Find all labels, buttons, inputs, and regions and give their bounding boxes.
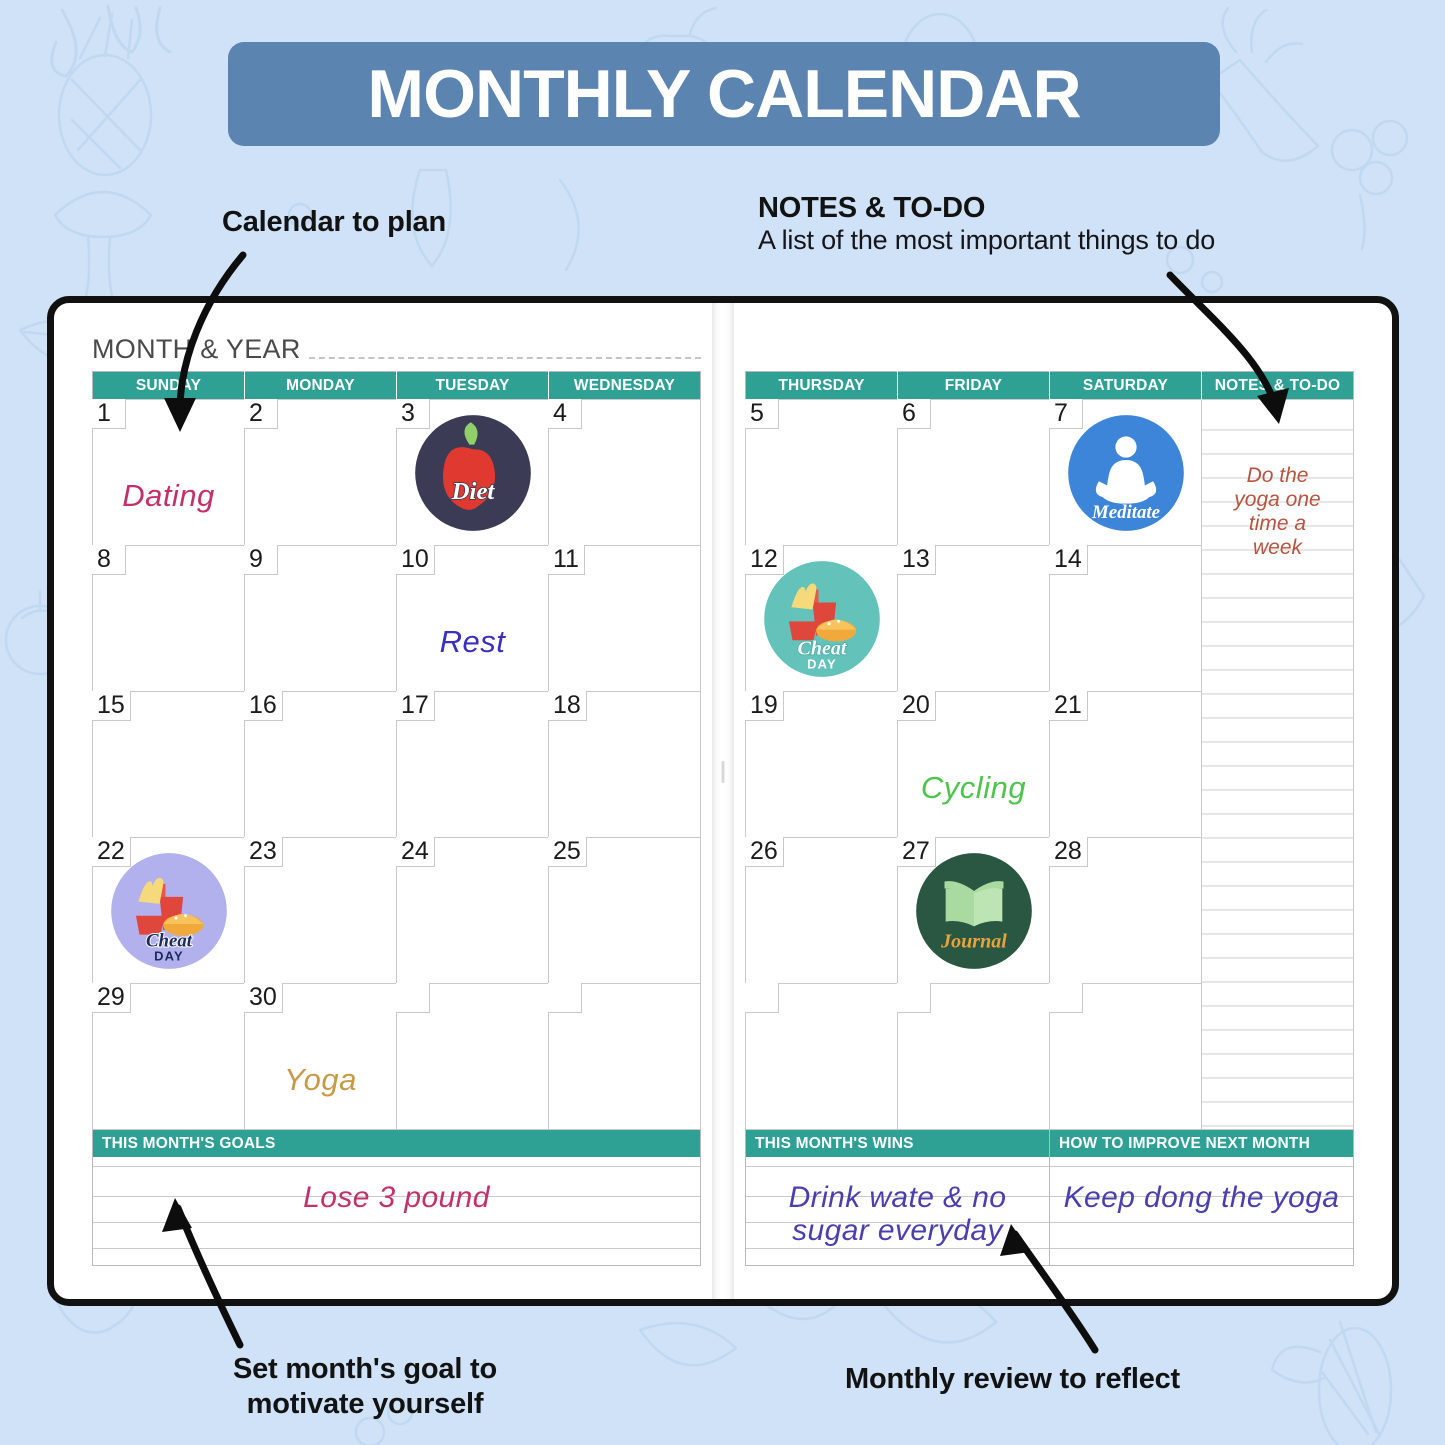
day-number bbox=[745, 983, 779, 1013]
day-number: 10 bbox=[396, 545, 435, 575]
day-number: 19 bbox=[745, 691, 784, 721]
calendar-week-row: 15 16 17 18 bbox=[93, 692, 701, 838]
this-months-goals-body[interactable]: Lose 3 pound bbox=[93, 1157, 700, 1265]
annotation-set-goal-text: Set month's goal to motivate yourself bbox=[175, 1352, 555, 1423]
weekday-header-sunday: SUNDAY bbox=[93, 372, 245, 400]
day-cell-18[interactable]: 18 bbox=[549, 692, 701, 838]
day-number: 1 bbox=[92, 399, 126, 429]
day-entry-dating[interactable]: Dating bbox=[93, 478, 244, 514]
cheat-day-teal-sticker[interactable]: Cheat DAY bbox=[763, 560, 881, 678]
page-title: MONTHLY CALENDAR bbox=[367, 60, 1080, 128]
day-cell-4[interactable]: 4 bbox=[549, 400, 701, 546]
day-cell-1[interactable]: 1 Dating bbox=[93, 400, 245, 546]
how-to-improve-body[interactable]: Keep dong the yoga bbox=[1050, 1157, 1353, 1265]
day-cell-20[interactable]: 20 Cycling bbox=[898, 692, 1050, 838]
annotation-set-goal: Set month's goal to motivate yourself bbox=[175, 1352, 555, 1423]
svg-text:DAY: DAY bbox=[154, 948, 184, 963]
review-section: THIS MONTH'S WINS HOW TO IMPROVE NEXT MO… bbox=[745, 1130, 1354, 1266]
this-months-wins-value[interactable]: Drink wate & no sugar everyday bbox=[746, 1181, 1049, 1247]
planner-left-page: MONTH & YEAR SUNDAY MONDAY TUESDAY WEDNE… bbox=[54, 303, 723, 1299]
day-number: 28 bbox=[1049, 837, 1088, 867]
day-cell-25[interactable]: 25 bbox=[549, 838, 701, 984]
day-number: 17 bbox=[396, 691, 435, 721]
notes-todo-column[interactable]: Do the yoga one time a week bbox=[1202, 400, 1354, 1130]
month-year-blank-line[interactable] bbox=[309, 357, 701, 359]
day-cell-6[interactable]: 6 bbox=[898, 400, 1050, 546]
day-cell-11[interactable]: 11 bbox=[549, 546, 701, 692]
weekday-header-tuesday: TUESDAY bbox=[397, 372, 549, 400]
how-to-improve-value[interactable]: Keep dong the yoga bbox=[1050, 1181, 1353, 1214]
day-number: 13 bbox=[897, 545, 936, 575]
day-cell-12[interactable]: 12 Cheat bbox=[746, 546, 898, 692]
day-entry-yoga[interactable]: Yoga bbox=[245, 1062, 396, 1098]
this-months-goals-section: THIS MONTH'S GOALS Lose 3 pound bbox=[92, 1130, 701, 1266]
calendar-grid-left: SUNDAY MONDAY TUESDAY WEDNESDAY 1 Dating… bbox=[92, 371, 701, 1130]
day-cell-blank-1[interactable] bbox=[397, 984, 549, 1130]
month-year-field[interactable]: MONTH & YEAR bbox=[92, 325, 701, 365]
calendar-week-row: 22 Cheat bbox=[93, 838, 701, 984]
day-number: 20 bbox=[897, 691, 936, 721]
annotation-notes-todo: NOTES & TO-DO A list of the most importa… bbox=[758, 192, 1215, 256]
weekday-header-saturday: SATURDAY bbox=[1050, 372, 1202, 400]
day-entry-rest[interactable]: Rest bbox=[397, 624, 548, 660]
day-cell-2[interactable]: 2 bbox=[245, 400, 397, 546]
day-cell-17[interactable]: 17 bbox=[397, 692, 549, 838]
meditate-sticker[interactable]: Meditate bbox=[1067, 414, 1185, 532]
right-page-top-spacer bbox=[745, 325, 1354, 371]
month-year-label: MONTH & YEAR bbox=[92, 334, 301, 365]
day-number: 2 bbox=[244, 399, 278, 429]
diet-sticker[interactable]: Diet bbox=[414, 414, 532, 532]
svg-text:DAY: DAY bbox=[807, 656, 837, 671]
day-cell-27[interactable]: 27 Journal bbox=[898, 838, 1050, 984]
calendar-grid-right: THURSDAY FRIDAY SATURDAY NOTES & TO-DO 5… bbox=[745, 371, 1354, 1130]
day-number: 6 bbox=[897, 399, 931, 429]
day-number: 14 bbox=[1049, 545, 1088, 575]
day-cell-blank-2[interactable] bbox=[549, 984, 701, 1130]
weekday-header-wednesday: WEDNESDAY bbox=[549, 372, 701, 400]
day-cell-blank-5[interactable] bbox=[1050, 984, 1202, 1130]
weekday-header-row-left: SUNDAY MONDAY TUESDAY WEDNESDAY bbox=[93, 372, 701, 400]
day-cell-7[interactable]: 7 Meditate bbox=[1050, 400, 1202, 546]
day-number: 8 bbox=[92, 545, 126, 575]
day-number: 29 bbox=[92, 983, 131, 1013]
calendar-week-row: 5 6 7 bbox=[746, 400, 1354, 546]
calendar-week-row: 29 30 Yoga bbox=[93, 984, 701, 1130]
day-number: 15 bbox=[92, 691, 131, 721]
day-cell-22[interactable]: 22 Cheat bbox=[93, 838, 245, 984]
day-number: 24 bbox=[396, 837, 435, 867]
day-cell-21[interactable]: 21 bbox=[1050, 692, 1202, 838]
weekday-header-friday: FRIDAY bbox=[898, 372, 1050, 400]
day-number: 5 bbox=[745, 399, 779, 429]
day-number: 18 bbox=[548, 691, 587, 721]
day-cell-blank-4[interactable] bbox=[898, 984, 1050, 1130]
page-title-banner: MONTHLY CALENDAR bbox=[228, 42, 1220, 146]
day-number: 16 bbox=[244, 691, 283, 721]
day-cell-23[interactable]: 23 bbox=[245, 838, 397, 984]
day-cell-15[interactable]: 15 bbox=[93, 692, 245, 838]
day-cell-16[interactable]: 16 bbox=[245, 692, 397, 838]
planner-notebook: MONTH & YEAR SUNDAY MONDAY TUESDAY WEDNE… bbox=[47, 296, 1399, 1306]
notes-todo-text[interactable]: Do the yoga one time a week bbox=[1202, 464, 1353, 560]
day-cell-9[interactable]: 9 bbox=[245, 546, 397, 692]
this-months-wins-body[interactable]: Drink wate & no sugar everyday bbox=[746, 1157, 1050, 1265]
calendar-week-row: 1 Dating 2 3 Diet bbox=[93, 400, 701, 546]
day-number bbox=[548, 983, 582, 1013]
annotation-calendar-to-plan: Calendar to plan bbox=[222, 206, 446, 239]
annotation-monthly-review-text: Monthly review to reflect bbox=[845, 1363, 1180, 1396]
annotation-calendar-to-plan-text: Calendar to plan bbox=[222, 206, 446, 239]
day-cell-blank-3[interactable] bbox=[746, 984, 898, 1130]
how-to-improve-heading: HOW TO IMPROVE NEXT MONTH bbox=[1050, 1130, 1353, 1157]
day-number: 30 bbox=[244, 983, 283, 1013]
svg-text:Diet: Diet bbox=[450, 477, 495, 504]
day-number bbox=[1049, 983, 1083, 1013]
day-cell-28[interactable]: 28 bbox=[1050, 838, 1202, 984]
day-number: 21 bbox=[1049, 691, 1088, 721]
day-cell-19[interactable]: 19 bbox=[746, 692, 898, 838]
weekday-header-monday: MONDAY bbox=[245, 372, 397, 400]
svg-text:Meditate: Meditate bbox=[1090, 501, 1159, 522]
annotation-monthly-review: Monthly review to reflect bbox=[845, 1363, 1180, 1396]
weekday-header-thursday: THURSDAY bbox=[746, 372, 898, 400]
annotation-notes-heading: NOTES & TO-DO bbox=[758, 192, 1215, 225]
day-number: 25 bbox=[548, 837, 587, 867]
this-months-goals-heading: THIS MONTH'S GOALS bbox=[93, 1130, 700, 1157]
day-cell-3[interactable]: 3 Diet bbox=[397, 400, 549, 546]
cheat-day-purple-sticker[interactable]: Cheat DAY bbox=[110, 852, 228, 970]
day-number bbox=[897, 983, 931, 1013]
day-cell-8[interactable]: 8 bbox=[93, 546, 245, 692]
review-heading-row: THIS MONTH'S WINS HOW TO IMPROVE NEXT MO… bbox=[746, 1130, 1353, 1157]
weekday-header-row-right: THURSDAY FRIDAY SATURDAY NOTES & TO-DO bbox=[746, 372, 1354, 400]
day-cell-13[interactable]: 13 bbox=[898, 546, 1050, 692]
day-cell-24[interactable]: 24 bbox=[397, 838, 549, 984]
this-months-goals-value[interactable]: Lose 3 pound bbox=[93, 1181, 700, 1214]
journal-sticker[interactable]: Journal bbox=[915, 852, 1033, 970]
this-months-wins-heading: THIS MONTH'S WINS bbox=[746, 1130, 1050, 1157]
day-number: 26 bbox=[745, 837, 784, 867]
day-cell-26[interactable]: 26 bbox=[746, 838, 898, 984]
day-cell-29[interactable]: 29 bbox=[93, 984, 245, 1130]
day-number: 9 bbox=[244, 545, 278, 575]
day-number: 4 bbox=[548, 399, 582, 429]
day-cell-5[interactable]: 5 bbox=[746, 400, 898, 546]
day-cell-30[interactable]: 30 Yoga bbox=[245, 984, 397, 1130]
day-number: 11 bbox=[548, 545, 585, 575]
annotation-notes-subtext: A list of the most important things to d… bbox=[758, 225, 1215, 256]
day-entry-cycling[interactable]: Cycling bbox=[898, 770, 1049, 806]
day-cell-10[interactable]: 10 Rest bbox=[397, 546, 549, 692]
notes-todo-header: NOTES & TO-DO bbox=[1202, 372, 1354, 400]
calendar-week-row: 8 9 10 Rest 11 bbox=[93, 546, 701, 692]
day-cell-14[interactable]: 14 bbox=[1050, 546, 1202, 692]
day-number bbox=[396, 983, 430, 1013]
planner-right-page: THURSDAY FRIDAY SATURDAY NOTES & TO-DO 5… bbox=[723, 303, 1392, 1299]
svg-text:Journal: Journal bbox=[940, 930, 1007, 952]
review-body-row: Drink wate & no sugar everyday Keep dong… bbox=[746, 1157, 1353, 1265]
day-number: 23 bbox=[244, 837, 283, 867]
